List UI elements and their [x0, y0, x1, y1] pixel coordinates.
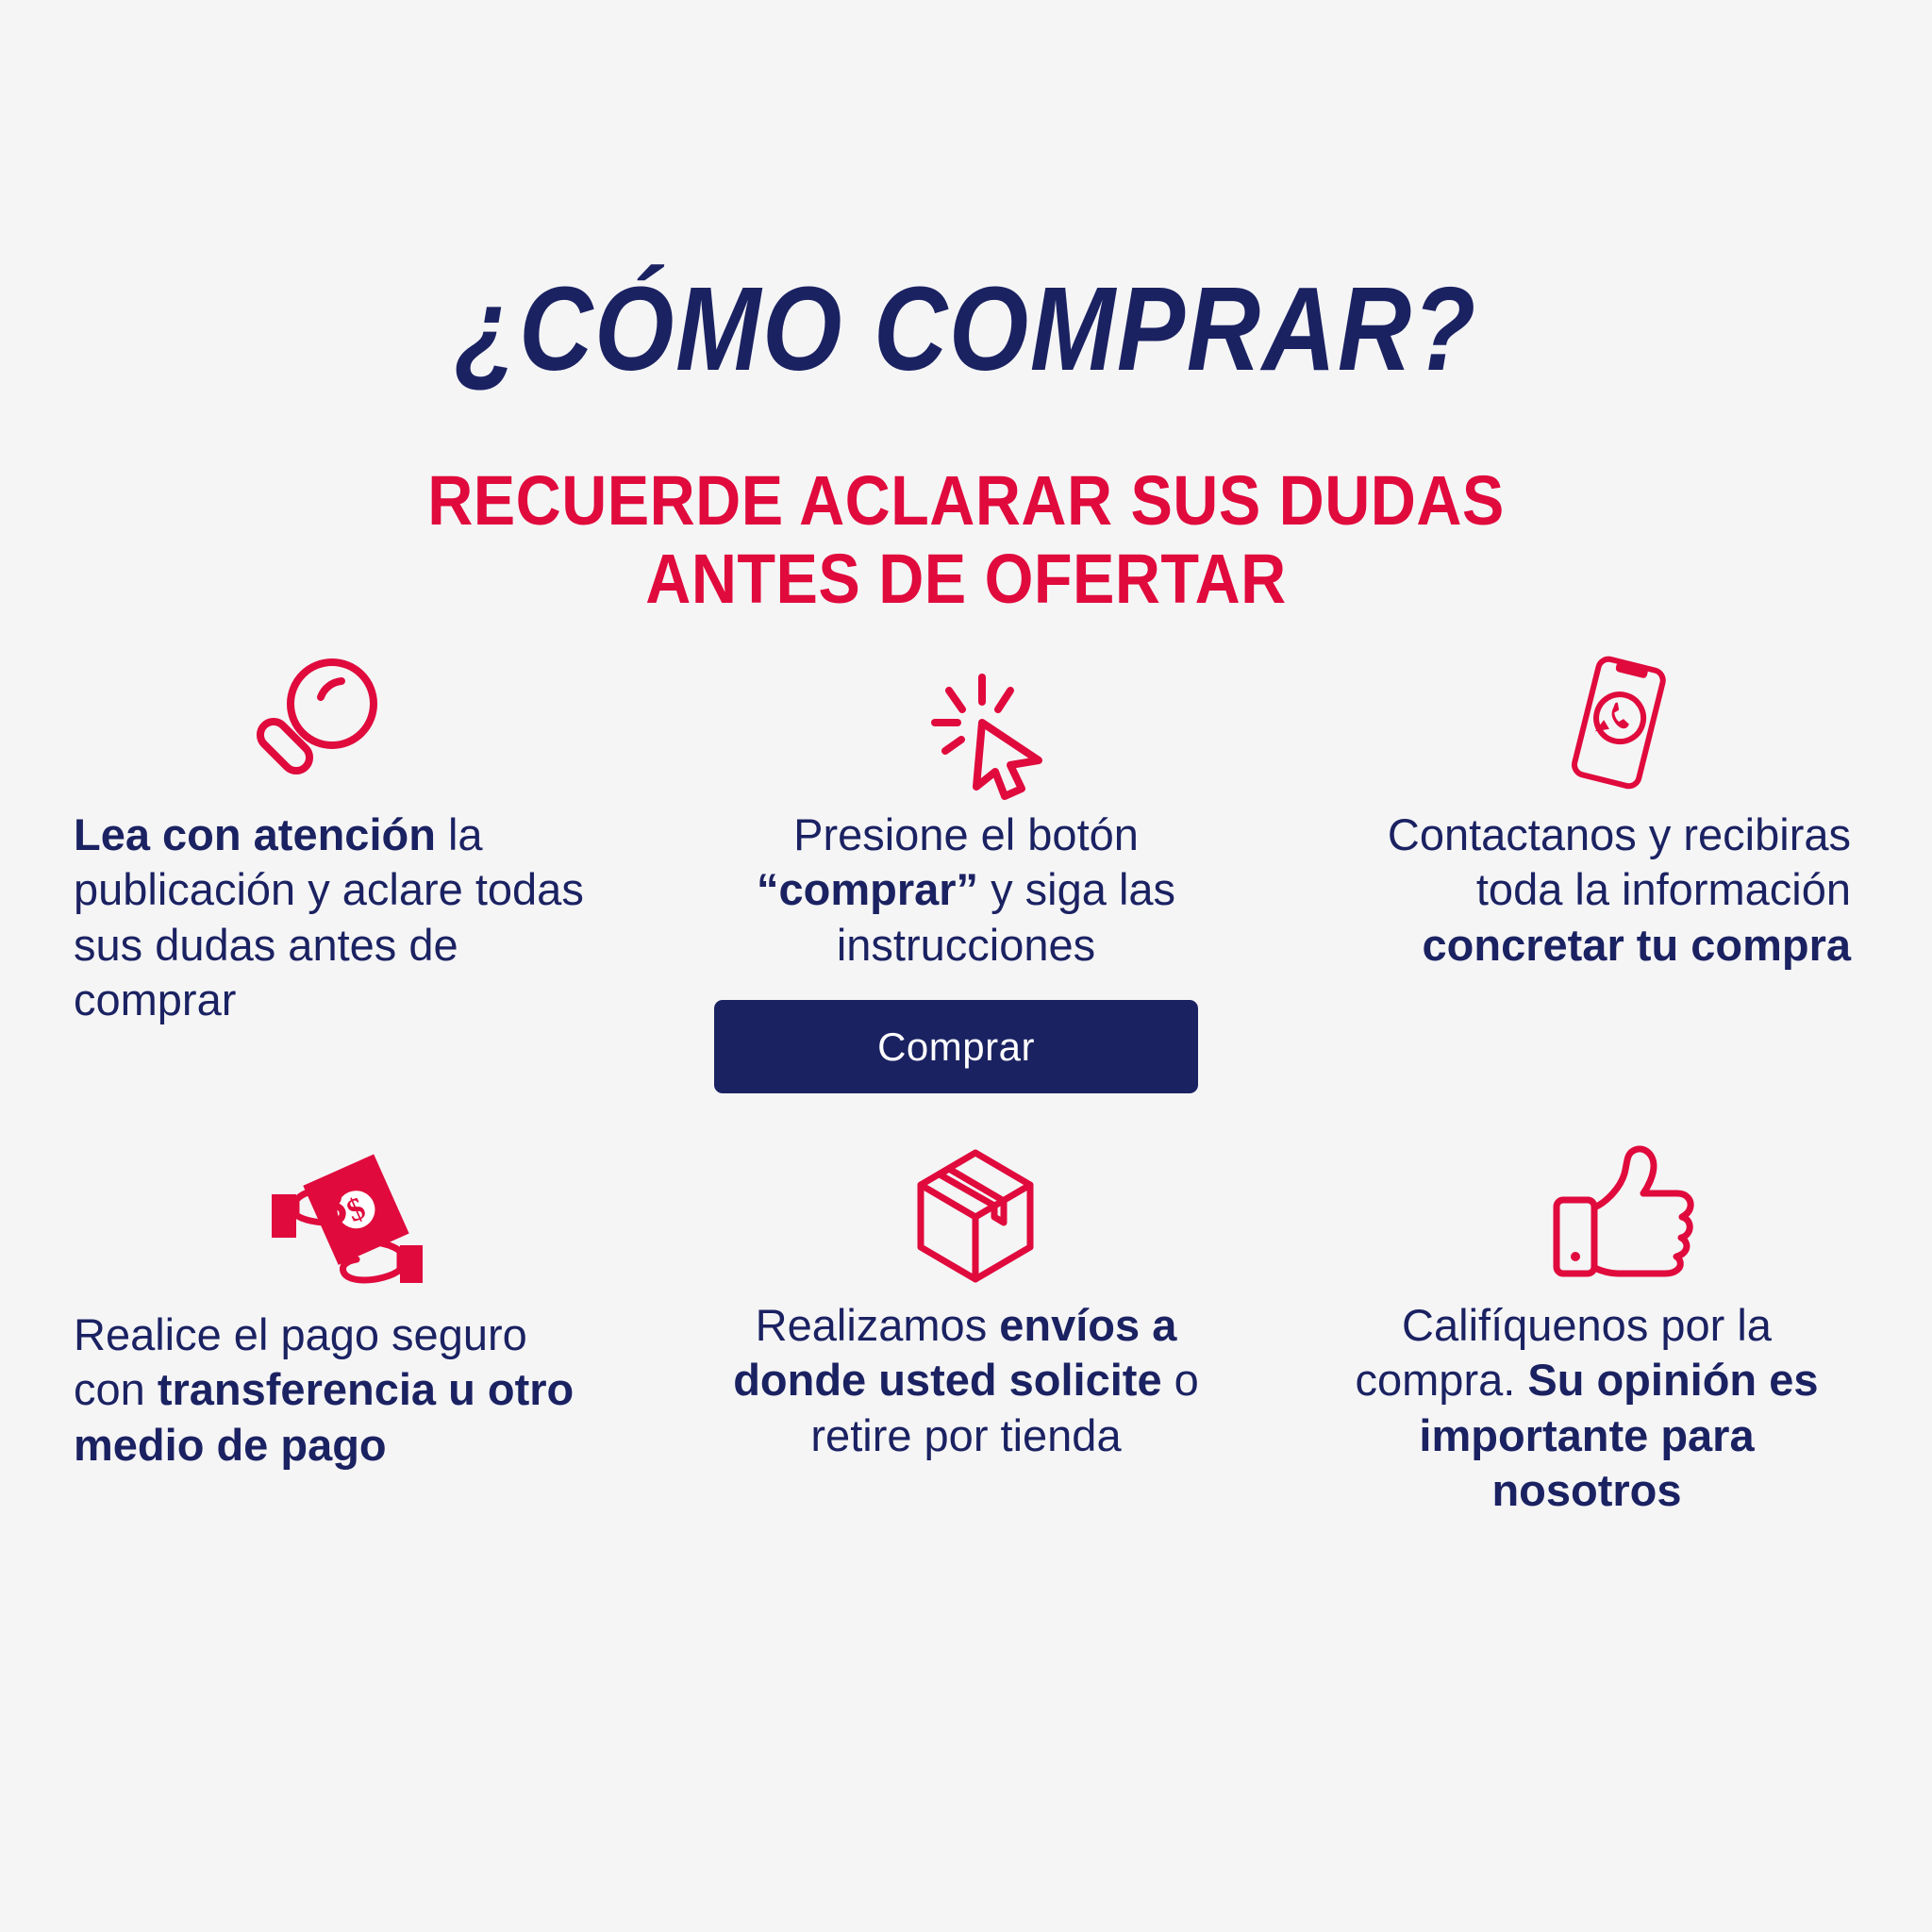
- step-pay-text: Realice el pago seguro con transferencia…: [74, 1307, 602, 1473]
- step-ship-text: Realizamos envíos a donde usted solicite…: [702, 1298, 1230, 1463]
- subtitle-line-1: RECUERDE ACLARAR SUS DUDAS: [427, 461, 1504, 540]
- step-press-bold: “comprar”: [757, 864, 978, 914]
- magnifier-icon: [74, 651, 602, 792]
- page-title: ¿CÓMO COMPRAR?: [135, 270, 1796, 389]
- step-card-rate: Califíquenos por la compra. Su opinión e…: [1323, 1141, 1851, 1518]
- step-press-text: Presione el botón “comprar” y siga las i…: [702, 808, 1230, 973]
- step-card-pay: $ Realice el pago seguro con transferenc…: [74, 1151, 602, 1473]
- thumbs-up-icon: [1323, 1141, 1851, 1283]
- step-read-bold: Lea con atención: [74, 809, 436, 859]
- step-contact-bold: concretar tu compra: [1423, 920, 1851, 970]
- step-read-text: Lea con atención la publicación y aclare…: [74, 808, 602, 1027]
- step-contact-plain: Contactanos y recibiras toda la informac…: [1388, 809, 1851, 914]
- package-box-icon: [702, 1141, 1230, 1283]
- step-card-ship: Realizamos envíos a donde usted solicite…: [702, 1141, 1230, 1463]
- step-rate-text: Califíquenos por la compra. Su opinión e…: [1323, 1298, 1851, 1518]
- whatsapp-phone-icon: [1323, 651, 1851, 792]
- page-subtitle: RECUERDE ACLARAR SUS DUDAS ANTES DE OFER…: [96, 462, 1835, 619]
- step-ship-plain-1: Realizamos: [756, 1300, 1000, 1350]
- step-contact-text: Contactanos y recibiras toda la informac…: [1323, 808, 1851, 973]
- subtitle-line-2: ANTES DE OFERTAR: [96, 541, 1835, 619]
- cursor-click-icon: [702, 651, 1230, 792]
- step-card-read: Lea con atención la publicación y aclare…: [74, 651, 602, 1027]
- infographic-canvas: ¿CÓMO COMPRAR? RECUERDE ACLARAR SUS DUDA…: [0, 0, 1932, 1932]
- cash-hands-icon: $: [74, 1151, 602, 1292]
- comprar-button[interactable]: Comprar: [714, 1000, 1198, 1093]
- step-card-press: Presione el botón “comprar” y siga las i…: [702, 651, 1230, 973]
- step-press-plain-1: Presione el botón: [793, 809, 1139, 859]
- step-card-contact: Contactanos y recibiras toda la informac…: [1323, 651, 1851, 973]
